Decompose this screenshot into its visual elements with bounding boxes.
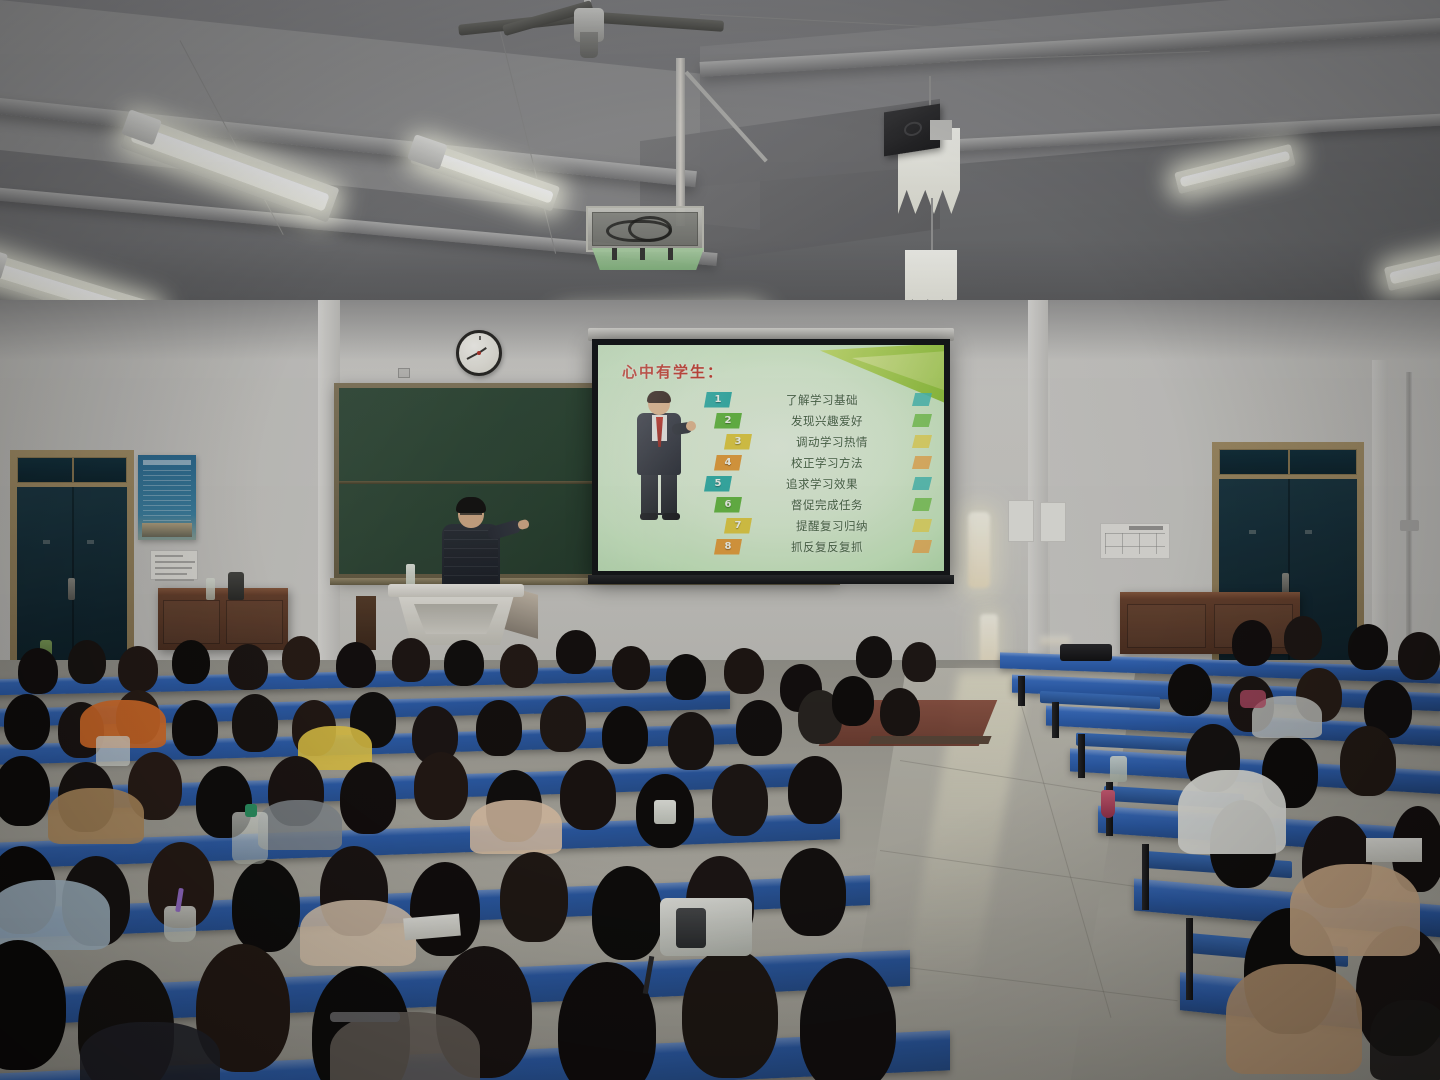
presenter [440, 500, 512, 592]
student [232, 860, 300, 952]
student [736, 700, 782, 756]
phone-cable [330, 1012, 400, 1022]
slide-item-tag [912, 540, 932, 553]
slide-title: 心中有学生： [622, 361, 724, 382]
pipe-clamp [1400, 520, 1419, 531]
student [18, 648, 58, 694]
wall-note [1008, 500, 1034, 542]
paper-sheet [1366, 838, 1422, 862]
bottle-cap-green [245, 804, 257, 817]
desk-leg [1018, 676, 1025, 706]
ceiling-fan [470, 0, 720, 58]
student [392, 638, 430, 682]
student [856, 636, 892, 678]
wall-clock [456, 330, 502, 376]
student [1398, 632, 1440, 680]
slide-item: 4 校正学习方法 [704, 452, 932, 473]
desk-leg [1186, 918, 1193, 1000]
student [500, 644, 538, 688]
student [682, 948, 778, 1078]
slide-item-text: 督促完成任务 [742, 497, 912, 513]
student [880, 688, 920, 736]
student-clothing-tan [1290, 864, 1420, 956]
student [410, 862, 480, 956]
slide-item: 2 发现兴趣爱好 [704, 410, 932, 431]
slide-item-text: 校正学习方法 [742, 455, 912, 471]
backpack-pocket [676, 908, 706, 948]
slide-item-text: 发现兴趣爱好 [742, 413, 912, 429]
screen-bottom-bar [588, 575, 954, 584]
fan-blade [598, 12, 724, 32]
lecture-hall-photo: 顺 向 以 [0, 0, 1440, 1080]
student [602, 706, 648, 764]
student [232, 694, 278, 752]
slide-item-tag [912, 435, 932, 448]
fan-motor [580, 32, 598, 58]
student-clothing-beige [470, 800, 562, 854]
student-clothing-white [1178, 770, 1286, 854]
wall-sign-right [1100, 523, 1170, 559]
projector-foot [640, 248, 645, 260]
slide-item-number: 4 [714, 455, 742, 471]
daylight-patch [968, 512, 990, 588]
student [336, 642, 376, 688]
student-clothing-grey [330, 1012, 480, 1080]
student [902, 642, 936, 682]
door-left[interactable] [10, 450, 134, 676]
slide-item-tag [912, 456, 932, 469]
student-clothing-cream [300, 900, 416, 966]
student [172, 640, 210, 684]
student [68, 640, 106, 684]
student [560, 760, 616, 830]
student [340, 762, 396, 834]
student [228, 644, 268, 690]
student [282, 636, 320, 680]
student [556, 630, 596, 674]
student [832, 676, 874, 726]
student [4, 694, 50, 750]
plastic-bag [232, 812, 268, 864]
cabinet-left [158, 588, 288, 650]
student [666, 654, 706, 700]
slide-item: 5 追求学习效果 [704, 473, 932, 494]
wall-note [1040, 502, 1066, 542]
slide-item-text: 提醒复习归纳 [752, 518, 912, 534]
student [414, 752, 468, 820]
student [612, 646, 650, 690]
slide-illustration-businessman [628, 393, 692, 521]
door-transom-window [1219, 449, 1357, 475]
student [1284, 616, 1322, 660]
student [788, 756, 842, 824]
bag-on-desk [1060, 644, 1112, 661]
slide-item: 6 督促完成任务 [704, 494, 932, 515]
stage-platform-lip [868, 736, 991, 744]
student [444, 640, 484, 686]
slide-item-number: 6 [714, 497, 742, 513]
thermos [228, 572, 244, 600]
plastic-bag [96, 736, 130, 766]
slide-item-tag [912, 414, 932, 427]
slide-item-number: 8 [714, 539, 742, 555]
bottle [206, 578, 215, 600]
desk-leg [1142, 844, 1149, 910]
door-handle[interactable] [68, 578, 75, 600]
slide-item-tag [912, 498, 932, 511]
water-bottle [1110, 756, 1127, 782]
slide-item-tag [912, 393, 932, 406]
student-clothing-dark [1370, 1000, 1440, 1080]
student [0, 756, 50, 826]
slide-item-number: 2 [714, 413, 742, 429]
projector [586, 206, 704, 252]
slide-item-number: 3 [724, 434, 752, 450]
wall-notes-group [1008, 500, 1070, 550]
slide-item-text: 调动学习热情 [752, 434, 912, 450]
student [172, 700, 218, 756]
student [668, 712, 714, 770]
slide-item: 3 调动学习热情 [704, 431, 932, 452]
student [592, 866, 662, 960]
slide-item-text: 抓反复反复抓 [742, 539, 912, 555]
student-clothing-grey [258, 800, 342, 850]
student [780, 848, 846, 936]
slide-item-number: 5 [704, 476, 732, 492]
student [1340, 726, 1396, 796]
red-accessory [1240, 690, 1266, 708]
slide-item-number: 1 [704, 392, 732, 408]
student [500, 852, 568, 942]
wall-pilaster [1028, 300, 1048, 680]
projector-foot [612, 248, 617, 260]
student [712, 764, 768, 836]
pink-bag [1101, 790, 1115, 818]
cup-on-desk [654, 800, 676, 824]
door-transom-window [17, 457, 127, 483]
slide-item-text: 追求学习效果 [732, 476, 912, 492]
slide-item: 8 抓反复反复抓 [704, 536, 932, 557]
student-clothing-tan [48, 788, 144, 844]
projector-tray [592, 248, 704, 270]
cabinet-right [1120, 592, 1300, 654]
student [800, 958, 896, 1080]
desk-leg [1052, 702, 1059, 738]
projector-mount-pole [676, 58, 685, 226]
slide-item-text: 了解学习基础 [732, 392, 912, 408]
student-clothing-dark [80, 1022, 220, 1080]
student [476, 700, 522, 756]
speaker-bracket [930, 120, 952, 140]
student [1232, 620, 1272, 666]
slide-item: 1 了解学习基础 [704, 389, 932, 410]
student [1168, 664, 1212, 716]
projector-foot [668, 248, 673, 260]
desk-leg [1078, 734, 1085, 778]
notice-board-blue [138, 455, 196, 540]
backpack-white [660, 898, 752, 956]
student [724, 648, 764, 694]
slide-item-tag [912, 477, 932, 490]
student-clothing-camel [1226, 964, 1362, 1074]
student [1348, 624, 1388, 670]
drink-cup [164, 906, 196, 942]
slide-item-number: 7 [724, 518, 752, 534]
slide-item: 7 提醒复习归纳 [704, 515, 932, 536]
wall-outlet-box [398, 368, 410, 378]
projection-screen: 心中有学生： 1 了解学习基础 2 发现兴趣爱好 [592, 339, 950, 577]
notice-small-white [150, 550, 198, 580]
projector-cables [628, 216, 672, 242]
slide-item-list: 1 了解学习基础 2 发现兴趣爱好 3 调动学习热情 4 校正学习方法 [704, 389, 932, 557]
student [118, 646, 158, 692]
slide: 心中有学生： 1 了解学习基础 2 发现兴趣爱好 [598, 345, 944, 571]
slide-item-tag [912, 519, 932, 532]
student [540, 696, 586, 752]
